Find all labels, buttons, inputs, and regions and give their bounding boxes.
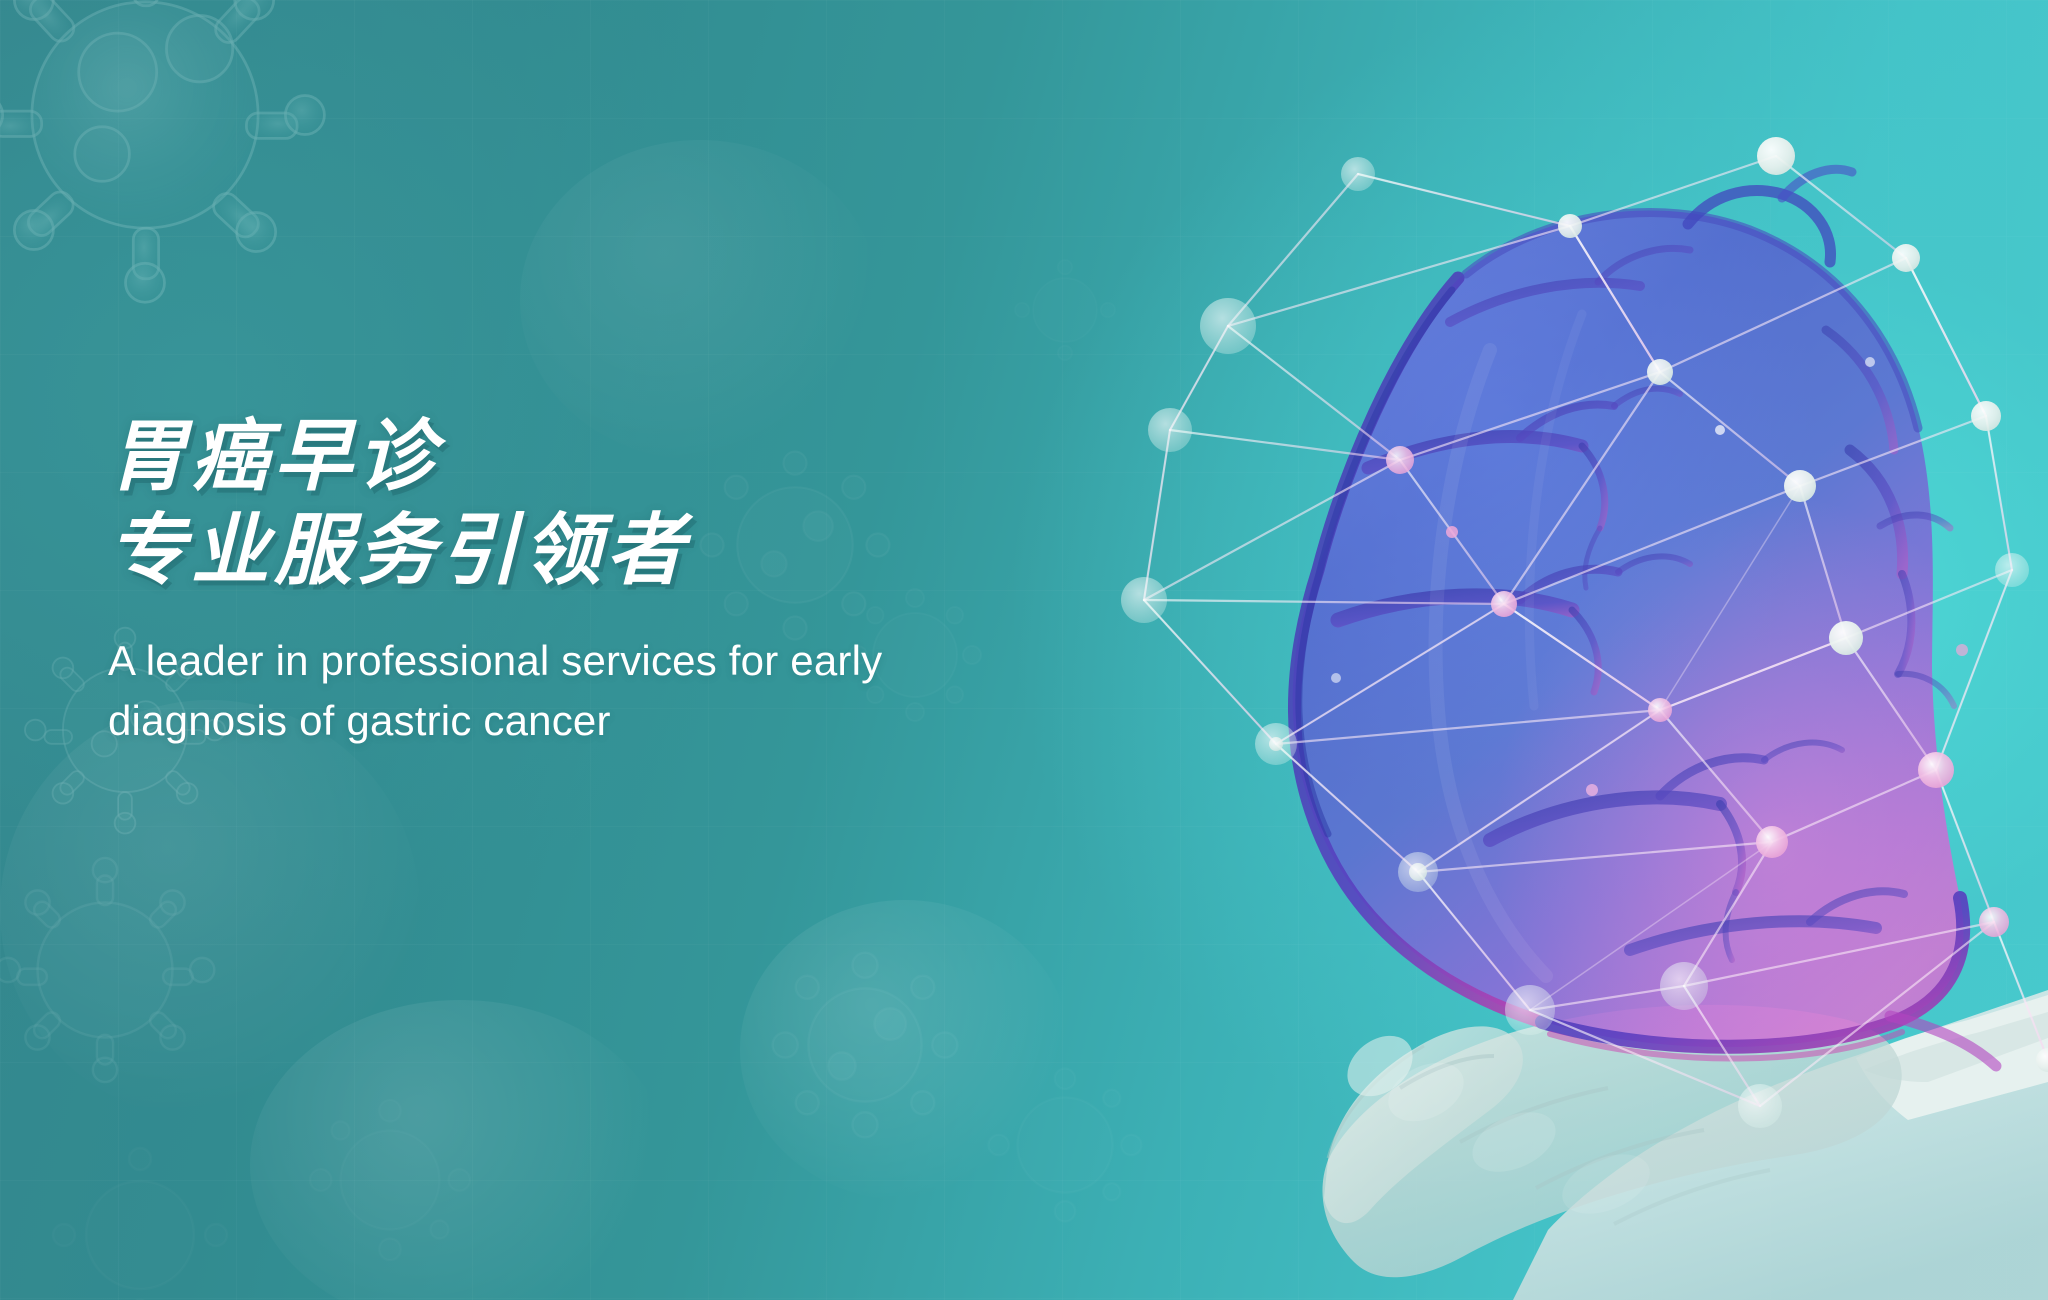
subtitle-line-2: diagnosis of gastric cancer (108, 697, 611, 744)
virus-icon (760, 930, 970, 1160)
page-title: 胃癌早诊 专业服务引领者 (108, 410, 1108, 597)
virus-icon (980, 1050, 1150, 1240)
virus-icon (40, 1130, 240, 1300)
headline-line-2: 专业服务引领者 (108, 504, 1108, 598)
page-subtitle: A leader in professional services for ea… (108, 631, 1108, 750)
hero-copy: 胃癌早诊 专业服务引领者 A leader in professional se… (108, 410, 1108, 750)
network-mesh-icon (1100, 130, 2048, 1150)
subtitle-line-1: A leader in professional services for ea… (108, 637, 882, 684)
virus-icon (1010, 250, 1120, 370)
hand-icon (1028, 690, 2048, 1300)
stomach-icon (1190, 150, 2048, 1150)
virus-icon (0, 820, 240, 1120)
soft-glow-blob (740, 900, 1070, 1200)
hero-banner: 胃癌早诊 专业服务引领者 A leader in professional se… (0, 0, 2048, 1300)
virus-icon (0, 0, 360, 310)
soft-glow-blob (0, 700, 420, 1120)
virus-icon (300, 1080, 480, 1280)
soft-glow-blob (250, 1000, 670, 1300)
headline-line-1: 胃癌早诊 (108, 412, 440, 500)
